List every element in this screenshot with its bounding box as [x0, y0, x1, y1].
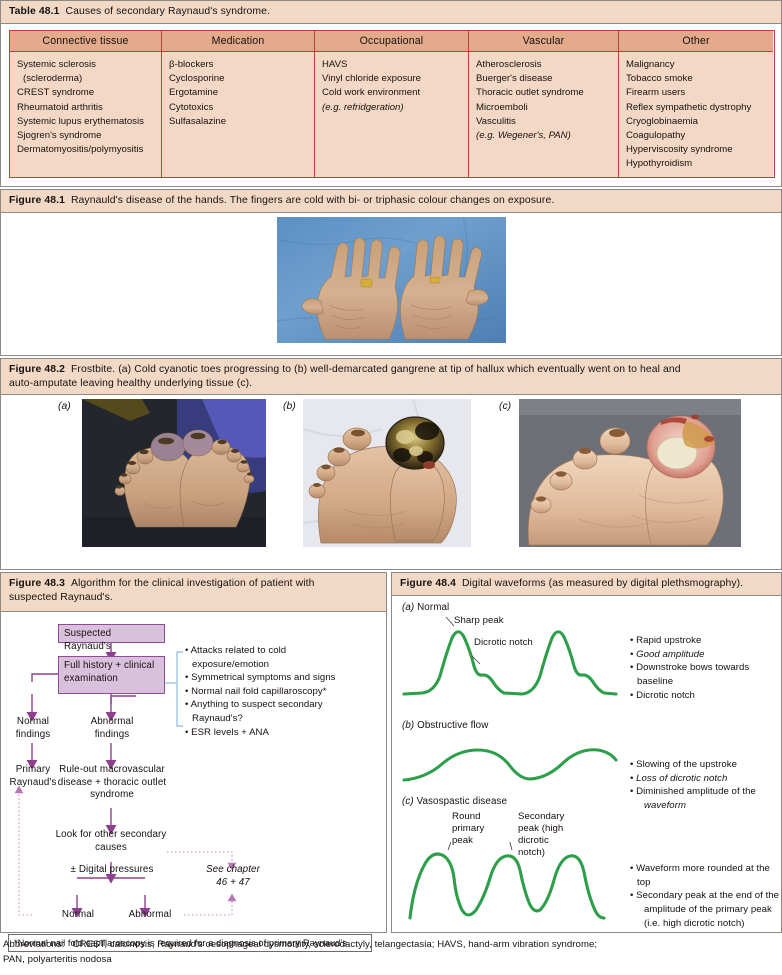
node-label-line-2: examination	[64, 673, 159, 686]
table-column-medication: Medication β-blockers Cyclosporine Ergot…	[162, 31, 315, 177]
panel-tag-b: (b)	[283, 401, 296, 412]
node-label-line-1: Abnormal	[77, 716, 147, 729]
figure-48-2-caption-line-1: Frostbite. (a) Cold cyanotic toes progre…	[71, 364, 681, 375]
node-label-line-2: findings	[2, 729, 64, 742]
waveform-a-title: (a) Normal	[402, 602, 449, 613]
figure-48-4-panel: Figure 48.4 Digital waveforms (as measur…	[391, 572, 782, 933]
bullet-item: • Diminished amplitude of the	[630, 785, 782, 799]
figure-48-2-label: Figure 48.2	[9, 364, 65, 375]
table-48-1-caption: Table 48.1 Causes of secondary Raynaud's…	[1, 1, 781, 24]
table-column-connective-tissue: Connective tissue Systemic sclerosis (sc…	[10, 31, 162, 177]
cell: HAVS	[322, 58, 463, 72]
healed-hallux-photo	[519, 399, 741, 547]
bullet-item-cont: exposure/emotion	[185, 658, 385, 672]
cell: β-blockers	[169, 58, 309, 72]
abbreviations-label: Abbreviations:	[3, 939, 65, 950]
waveform-title-text: Vasospastic disease	[417, 796, 507, 807]
node-label-line-1: See chapter	[197, 864, 269, 877]
node-label-line-1: Full history + clinical	[64, 660, 159, 673]
waveform-tag: (a)	[402, 602, 414, 613]
cell: Systemic lupus erythematosis	[17, 115, 156, 129]
figure-48-3-caption-line-1: Algorithm for the clinical investigation…	[71, 578, 315, 589]
node-label: Suspected Raynaud's	[64, 628, 111, 652]
cell: Buerger's disease	[476, 72, 613, 86]
cell: Reflex sympathetic dystrophy	[626, 101, 768, 115]
table-column-occupational: Occupational HAVS Vinyl chloride exposur…	[315, 31, 469, 177]
column-body: β-blockers Cyclosporine Ergotamine Cytot…	[162, 52, 314, 133]
node-normal-findings: Normal findings	[2, 716, 64, 741]
bullet-item: • Dicrotic notch	[630, 689, 782, 703]
column-header: Occupational	[315, 31, 468, 52]
figure-48-1-caption-text: Raynauld's disease of the hands. The fin…	[71, 195, 554, 206]
bullet-item-cont: Raynaud's?	[185, 712, 385, 726]
node-label-line-2: disease + thoracic outlet	[37, 777, 187, 790]
column-header: Vascular	[469, 31, 618, 52]
table-48-1-caption-text: Causes of secondary Raynaud's syndrome.	[65, 6, 270, 17]
cell: Hypothyroidism	[626, 157, 768, 171]
figure-48-2-panel: Figure 48.2 Frostbite. (a) Cold cyanotic…	[0, 358, 782, 570]
cell: Hyperviscosity syndrome	[626, 143, 768, 157]
gangrenous-hallux-photo	[303, 399, 471, 547]
node-label-line-2: causes	[35, 842, 187, 855]
node-see-chapter: See chapter 46 + 47	[197, 864, 269, 889]
node-full-history: Full history + clinical examination	[58, 656, 165, 694]
bullet-item: • Slowing of the upstroke	[630, 758, 782, 772]
node-abnormal-leaf: Abnormal	[115, 909, 185, 922]
bullet-item: • ESR levels + ANA	[185, 726, 385, 740]
cell: Atherosclerosis	[476, 58, 613, 72]
cell: Cyclosporine	[169, 72, 309, 86]
column-header: Connective tissue	[10, 31, 161, 52]
causes-table: Connective tissue Systemic sclerosis (sc…	[9, 30, 775, 178]
node-label-line-2: 46 + 47	[197, 877, 269, 890]
cell: Systemic sclerosis	[17, 58, 156, 72]
node-label-line-1: Normal	[2, 716, 64, 729]
cell: Vinyl chloride exposure	[322, 72, 463, 86]
panel-tag-c: (c)	[499, 401, 511, 412]
figure-48-2-caption: Figure 48.2 Frostbite. (a) Cold cyanotic…	[1, 359, 781, 395]
cell: Microemboli	[476, 101, 613, 115]
waveform-trace-obstructive	[400, 736, 620, 788]
figure-48-2-caption-line-2: auto-amputate leaving healthy underlying…	[9, 378, 252, 389]
cell: Cold work environment	[322, 86, 463, 100]
waveform-c-title: (c) Vasospastic disease	[402, 796, 507, 807]
abbreviations-line-1: Abbreviations: CREST, calcinosis, Raynau…	[3, 938, 782, 953]
node-digital-pressures: ± Digital pressures	[53, 864, 171, 877]
figure-48-3-label: Figure 48.3	[9, 578, 65, 589]
figure-48-3-caption-line-2: suspected Raynaud's.	[9, 592, 113, 603]
table-48-1-caption-label: Table 48.1	[9, 6, 59, 17]
waveform-b-bullets: • Slowing of the upstroke • Loss of dicr…	[630, 758, 782, 813]
figure-48-4-label: Figure 48.4	[400, 578, 456, 589]
column-body: HAVS Vinyl chloride exposure Cold work e…	[315, 52, 468, 119]
table-column-vascular: Vascular Atherosclerosis Buerger's disea…	[469, 31, 619, 177]
figure-48-3-panel: Figure 48.3 Algorithm for the clinical i…	[0, 572, 387, 933]
waveform-trace-normal	[400, 614, 620, 706]
abbreviations-text: CREST, calcinosis, Raynaud's oesophageal…	[73, 939, 597, 950]
cell: (e.g. refridgeration)	[322, 101, 463, 115]
bullet-item: • Downstroke bows towards baseline	[630, 661, 782, 689]
figure-48-2-photo-area: (a)	[1, 395, 781, 565]
node-look-other-causes: Look for other secondary causes	[35, 829, 187, 854]
cell: (e.g. Wegener's, PAN)	[476, 129, 613, 143]
node-label: Abnormal	[115, 909, 185, 922]
cell: Malignancy	[626, 58, 768, 72]
node-suspected-raynauds: Suspected Raynaud's	[58, 624, 165, 643]
node-label: ± Digital pressures	[53, 864, 171, 877]
bullet-item-cont: amplitude of the primary peak	[630, 903, 782, 917]
node-label-line-1: Look for other secondary	[35, 829, 187, 842]
waveform-title-text: Normal	[417, 602, 449, 613]
figure-48-3-caption: Figure 48.3 Algorithm for the clinical i…	[1, 573, 386, 612]
panel-tag-a: (a)	[58, 401, 71, 412]
bullet-item: • Normal nail fold capillaroscopy*	[185, 685, 385, 699]
cell: Rheumatoid arthritis	[17, 101, 156, 115]
waveform-tag: (b)	[402, 720, 414, 731]
waveform-tag: (c)	[402, 796, 414, 807]
waveform-trace-vasospastic	[400, 842, 620, 924]
figure-48-1-panel: Figure 48.1 Raynauld's disease of the ha…	[0, 189, 782, 356]
column-header: Other	[619, 31, 773, 52]
node-label-line-3: syndrome	[37, 789, 187, 802]
node-label-line-2: findings	[77, 729, 147, 742]
node-abnormal-findings: Abnormal findings	[77, 716, 147, 741]
cell: (scleroderma)	[17, 72, 156, 86]
bullet-item: • Rapid upstroke	[630, 634, 782, 648]
column-header: Medication	[162, 31, 314, 52]
column-body: Atherosclerosis Buerger's disease Thorac…	[469, 52, 618, 147]
node-rule-out-macrovascular: Rule-out macrovascular disease + thoraci…	[37, 764, 187, 802]
cell: Ergotamine	[169, 86, 309, 100]
figure-48-4-caption: Figure 48.4 Digital waveforms (as measur…	[392, 573, 781, 596]
cell: Dermatomyositis/polymyositis	[17, 143, 156, 157]
waveform-c-bullets: • Waveform more rounded at the top • Sec…	[630, 862, 782, 931]
bullet-item: • Attacks related to cold	[185, 644, 385, 658]
cell: Coagulopathy	[626, 129, 768, 143]
bullet-item: • Anything to suspect secondary	[185, 698, 385, 712]
figure-48-4-body: (a) Normal Sharp peak Dicrotic notch • R…	[392, 596, 781, 932]
waveform-title-text: Obstructive flow	[417, 720, 488, 731]
abbreviations-block: Abbreviations: CREST, calcinosis, Raynau…	[0, 938, 782, 968]
figure-48-1-caption: Figure 48.1 Raynauld's disease of the ha…	[1, 190, 781, 213]
column-body: Systemic sclerosis (scleroderma) CREST s…	[10, 52, 161, 161]
node-label-line-1: Rule-out macrovascular	[37, 764, 187, 777]
figure-48-4-caption-text: Digital waveforms (as measured by digita…	[462, 578, 743, 589]
table-column-other: Other Malignancy Tobacco smoke Firearm u…	[619, 31, 773, 177]
bullet-item: • Good amplitude	[630, 648, 782, 662]
column-body: Malignancy Tobacco smoke Firearm users R…	[619, 52, 773, 176]
bullet-item-cont: waveform	[630, 799, 782, 813]
table-48-1-panel: Table 48.1 Causes of secondary Raynaud's…	[0, 0, 782, 187]
waveform-b-title: (b) Obstructive flow	[402, 720, 488, 731]
cell: CREST syndrome	[17, 86, 156, 100]
cell: Sulfasalazine	[169, 115, 309, 129]
cell: Cryoglobinaemia	[626, 115, 768, 129]
cell: Firearm users	[626, 86, 768, 100]
bullet-item: • Loss of dicrotic notch	[630, 772, 782, 786]
figure-48-1-label: Figure 48.1	[9, 195, 65, 206]
abbreviations-line-2: PAN, polyarteritis nodosa	[3, 953, 782, 968]
cell: Thoracic outlet syndrome	[476, 86, 613, 100]
cell: Tobacco smoke	[626, 72, 768, 86]
node-label: Normal	[47, 909, 109, 922]
waveform-a-bullets: • Rapid upstroke • Good amplitude • Down…	[630, 634, 782, 703]
node-normal-leaf: Normal	[47, 909, 109, 922]
figure-48-3-bullet-list: • Attacks related to cold exposure/emoti…	[185, 644, 385, 739]
cell: Sjogren's syndrome	[17, 129, 156, 143]
bullet-item-cont: (i.e. high dicrotic notch)	[630, 917, 782, 931]
hands-photo	[277, 217, 506, 343]
bullet-item: • Waveform more rounded at the top	[630, 862, 782, 890]
cell: Cytotoxics	[169, 101, 309, 115]
cell: Vasculitis	[476, 115, 613, 129]
cyanotic-toes-photo	[82, 399, 266, 547]
bullet-item: • Symmetrical symptoms and signs	[185, 671, 385, 685]
figure-48-1-photo-area	[1, 213, 781, 355]
bullet-item: • Secondary peak at the end of the	[630, 889, 782, 903]
